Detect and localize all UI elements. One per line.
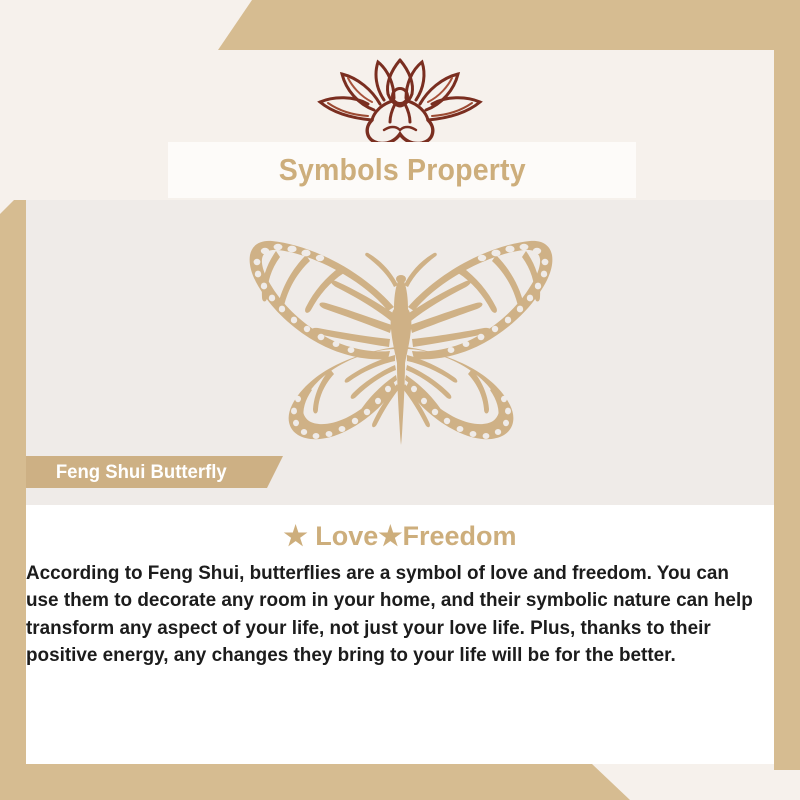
infographic-page: BUDDHA STONES Symbols Property xyxy=(0,0,800,800)
gold-border-top xyxy=(218,0,800,50)
lotus-meditation-figure-icon xyxy=(312,56,488,150)
headline: ★ Love★Freedom xyxy=(26,521,774,552)
gold-border-bottom xyxy=(0,764,800,800)
gold-border-right xyxy=(774,0,800,770)
gold-border-left xyxy=(0,200,26,800)
page-title: Symbols Property xyxy=(278,152,525,188)
content-panel: BUDDHA STONES Symbols Property xyxy=(26,50,774,764)
page-title-banner: Symbols Property xyxy=(168,142,636,198)
body-paragraph: According to Feng Shui, butterflies are … xyxy=(26,560,763,669)
description-section: ★ Love★Freedom According to Feng Shui, b… xyxy=(26,505,774,764)
feng-shui-butterfly-tag: Feng Shui Butterfly xyxy=(26,456,283,488)
tag-label: Feng Shui Butterfly xyxy=(31,461,227,484)
butterfly-illustration-area xyxy=(26,200,774,488)
butterfly-icon xyxy=(220,229,580,459)
